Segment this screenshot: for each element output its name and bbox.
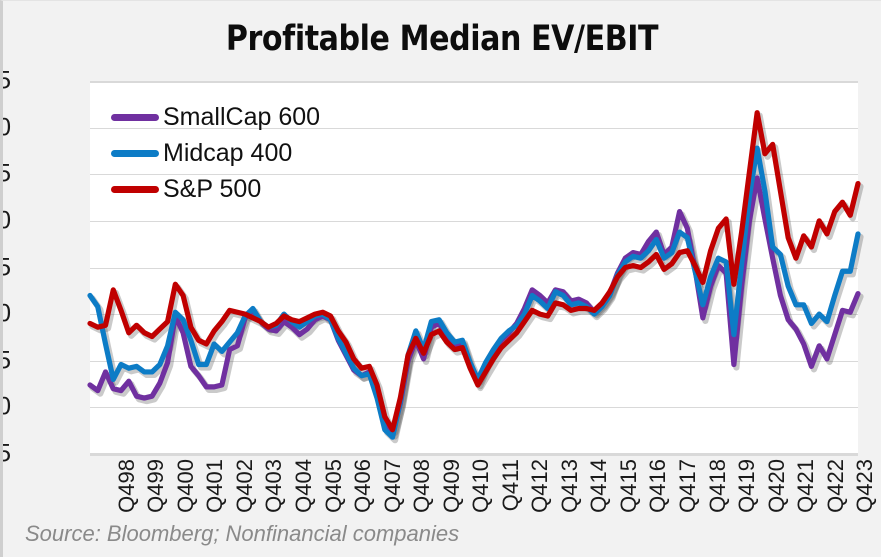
x-axis-tick-label: Q402	[232, 459, 258, 513]
x-axis-tick-label: Q409	[439, 459, 465, 513]
y-axis-tick-label: 25.0	[0, 113, 11, 142]
y-axis-tick-label: 7.5	[0, 440, 11, 469]
x-axis-tick-label: Q421	[793, 459, 819, 513]
y-axis-tick-label: 20.0	[0, 206, 11, 235]
x-axis-tick-label: Q498	[114, 459, 140, 513]
x-axis-tick-label: Q406	[350, 459, 376, 513]
x-axis-tick-label: Q403	[261, 459, 287, 513]
x-axis-tick-label: Q417	[675, 459, 701, 513]
legend-item-sp500[interactable]: S&P 500	[111, 171, 371, 207]
y-axis-tick-label: 27.5	[0, 67, 11, 96]
x-axis-tick-label: Q419	[734, 459, 760, 513]
x-axis-tick-label: Q422	[823, 459, 849, 513]
x-axis-tick-label: Q407	[380, 459, 406, 513]
y-axis-tick-label: 22.5	[0, 160, 11, 189]
x-axis-tick-label: Q420	[764, 459, 790, 513]
legend-item-smallcap[interactable]: SmallCap 600	[111, 99, 371, 135]
legend: SmallCap 600 Midcap 400 S&P 500	[111, 99, 371, 207]
x-axis-tick-label: Q418	[705, 459, 731, 513]
x-axis-tick-label: Q401	[202, 459, 228, 513]
y-axis-tick-label: 17.5	[0, 253, 11, 282]
x-axis-tick-label: Q411	[498, 459, 524, 511]
x-axis-tick-label: Q400	[173, 459, 199, 513]
x-axis-tick-label: Q416	[645, 459, 671, 513]
x-axis-tick-label: Q412	[527, 459, 553, 513]
x-axis-tick-label: Q405	[321, 459, 347, 513]
legend-swatch-midcap	[111, 150, 159, 157]
x-axis-tick-label: Q408	[409, 459, 435, 513]
page-title: Profitable Median EV/EBIT	[64, 19, 819, 59]
x-axis-tick-label: Q415	[616, 459, 642, 513]
chart-page: Profitable Median EV/EBIT 27.525.022.520…	[0, 0, 881, 557]
legend-label-midcap: Midcap 400	[163, 141, 292, 166]
y-axis-tick-label: 12.5	[0, 346, 11, 375]
y-axis-tick-label: 10.0	[0, 393, 11, 422]
legend-label-sp500: S&P 500	[163, 177, 261, 202]
legend-swatch-sp500	[111, 186, 159, 193]
y-axis-tick-label: 15.0	[0, 300, 11, 329]
x-axis-tick-label: Q499	[143, 459, 169, 513]
x-axis-tick-label: Q414	[586, 459, 612, 513]
legend-swatch-smallcap	[111, 114, 159, 121]
x-axis-tick-label: Q413	[557, 459, 583, 513]
x-axis-tick-label: Q423	[852, 459, 878, 513]
legend-label-smallcap: SmallCap 600	[163, 105, 320, 130]
x-axis-tick-label: Q410	[468, 459, 494, 513]
legend-item-midcap[interactable]: Midcap 400	[111, 135, 371, 171]
x-axis-tick-label: Q404	[291, 459, 317, 513]
source-note: Source: Bloomberg; Nonfinancial companie…	[25, 521, 459, 547]
